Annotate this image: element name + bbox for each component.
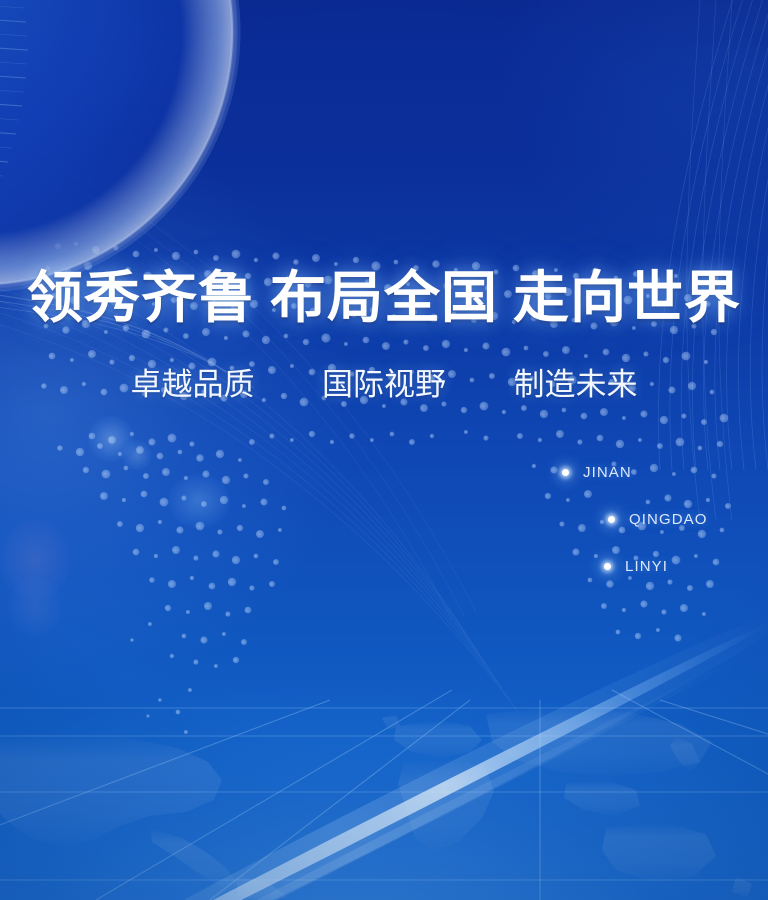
vignette-overlay — [0, 0, 768, 900]
map-pin-icon — [562, 469, 569, 476]
subtitle-part-1: 卓越品质 — [131, 367, 255, 402]
bokeh-orb — [168, 474, 230, 528]
light-streak — [0, 0, 768, 900]
dotted-world-map — [0, 0, 768, 900]
city-label: LINYI — [625, 558, 668, 575]
banner-subtitle: 卓越品质 国际视野 制造未来 — [0, 366, 768, 404]
city-marker-linyi[interactable]: LINYI — [604, 558, 668, 575]
map-pin-icon — [604, 563, 611, 570]
perspective-grid — [0, 0, 768, 900]
top-right-glow — [0, 0, 768, 900]
bokeh-orb — [8, 576, 62, 636]
earth-globe — [0, 0, 768, 900]
page-title: 领秀齐鲁 布局全国 走向世界 — [0, 268, 768, 330]
diagonal-threads — [0, 0, 768, 900]
bokeh-orb — [88, 416, 134, 462]
bokeh-orb — [0, 520, 70, 600]
subtitle-part-3: 制造未来 — [514, 367, 638, 402]
city-label: QINGDAO — [629, 511, 708, 528]
bottom-light-wash — [0, 0, 768, 900]
banner-copy: 领秀齐鲁 布局全国 走向世界 卓越品质 国际视野 制造未来 — [0, 0, 768, 900]
city-marker-jinan[interactable]: JINAN — [562, 464, 632, 481]
city-label: JINAN — [583, 464, 632, 481]
map-pin-icon — [608, 516, 615, 523]
hero-banner: 领秀齐鲁 布局全国 走向世界 卓越品质 国际视野 制造未来 JINAN QING… — [0, 0, 768, 900]
left-light-wash — [0, 0, 768, 900]
bokeh-orb — [122, 440, 152, 470]
subtitle-part-2: 国际视野 — [322, 367, 446, 402]
city-marker-qingdao[interactable]: QINGDAO — [608, 511, 708, 528]
orbit-arc-lines — [0, 0, 768, 900]
world-map-silhouette — [0, 0, 768, 900]
